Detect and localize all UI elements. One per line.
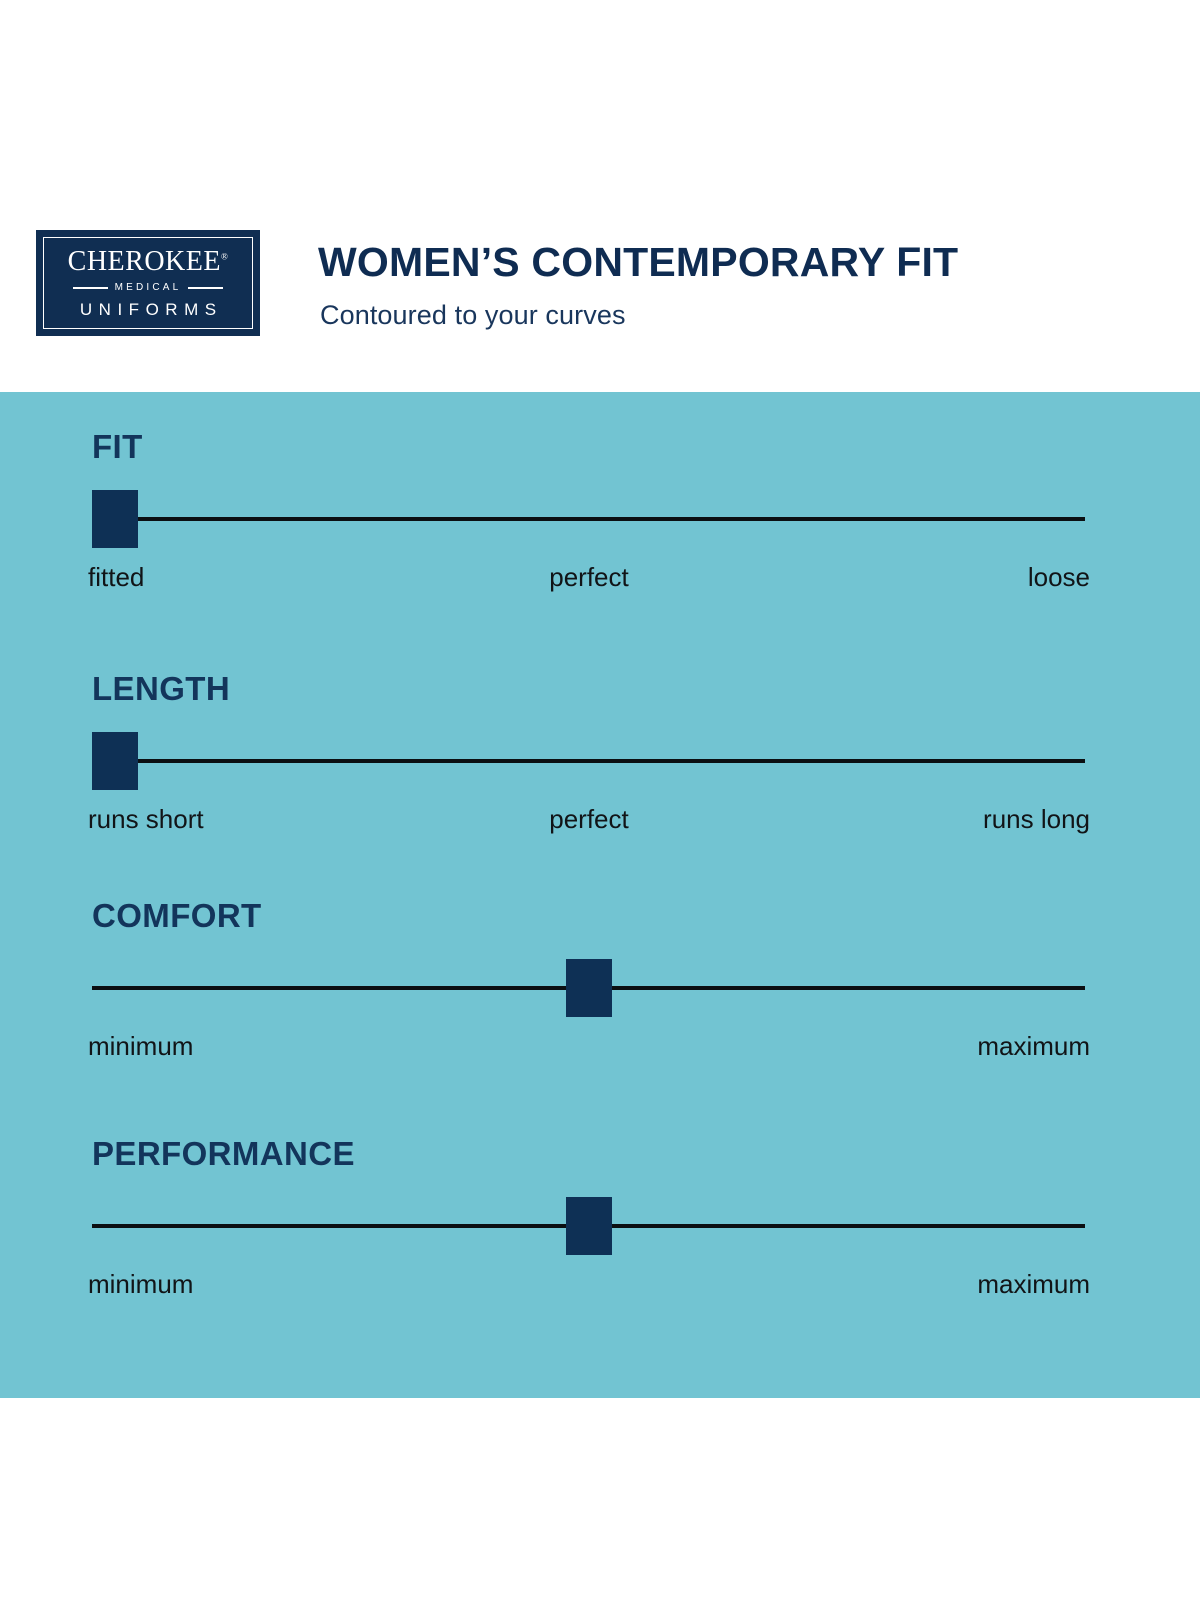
slider-heading-length: LENGTH [92, 672, 230, 705]
logo-uniforms-text: UNIFORMS [73, 301, 222, 318]
slider-label-right: maximum [977, 1031, 1090, 1062]
slider-handle-performance[interactable] [566, 1197, 612, 1255]
logo-rule-left-icon [73, 287, 108, 289]
slider-labels-performance: minimum maximum [88, 1269, 1090, 1303]
slider-label-center: perfect [88, 562, 1090, 593]
track-line [138, 517, 1085, 521]
slider-labels-fit: fitted perfect loose [88, 562, 1090, 596]
slider-handle-fit[interactable] [92, 490, 138, 548]
header-band: CHEROKEE® MEDICAL UNIFORMS WOMEN’S CONTE… [0, 0, 1200, 392]
slider-heading-performance: PERFORMANCE [92, 1137, 355, 1170]
fit-guide-page: CHEROKEE® MEDICAL UNIFORMS WOMEN’S CONTE… [0, 0, 1200, 1600]
slider-label-right: loose [1028, 562, 1090, 593]
slider-track-fit[interactable] [92, 488, 1085, 550]
slider-panel: FIT fitted perfect loose LENGTH runs sho… [0, 392, 1200, 1398]
page-subtitle: Contoured to your curves [320, 299, 626, 331]
slider-heading-fit: FIT [92, 430, 143, 463]
logo-inner-frame: CHEROKEE® MEDICAL UNIFORMS [43, 237, 253, 329]
page-title: WOMEN’S CONTEMPORARY FIT [318, 240, 958, 284]
slider-label-center: perfect [88, 804, 1090, 835]
slider-label-right: runs long [983, 804, 1090, 835]
slider-track-length[interactable] [92, 730, 1085, 792]
track-line [138, 759, 1085, 763]
slider-labels-length: runs short perfect runs long [88, 804, 1090, 838]
logo-medical-row: MEDICAL [73, 283, 223, 293]
slider-labels-comfort: minimum maximum [88, 1031, 1090, 1065]
slider-track-comfort[interactable] [92, 957, 1085, 1019]
logo-brand-text: CHEROKEE [68, 246, 221, 277]
slider-handle-comfort[interactable] [566, 959, 612, 1017]
slider-label-left: minimum [88, 1031, 193, 1062]
logo-medical-text: MEDICAL [115, 283, 182, 293]
slider-heading-comfort: COMFORT [92, 899, 262, 932]
logo-brand-name: CHEROKEE® [68, 248, 229, 276]
cherokee-logo: CHEROKEE® MEDICAL UNIFORMS [36, 230, 260, 336]
slider-label-right: maximum [977, 1269, 1090, 1300]
registered-trademark-icon: ® [221, 252, 228, 262]
slider-track-performance[interactable] [92, 1195, 1085, 1257]
slider-label-left: minimum [88, 1269, 193, 1300]
slider-handle-length[interactable] [92, 732, 138, 790]
logo-rule-right-icon [188, 287, 223, 289]
